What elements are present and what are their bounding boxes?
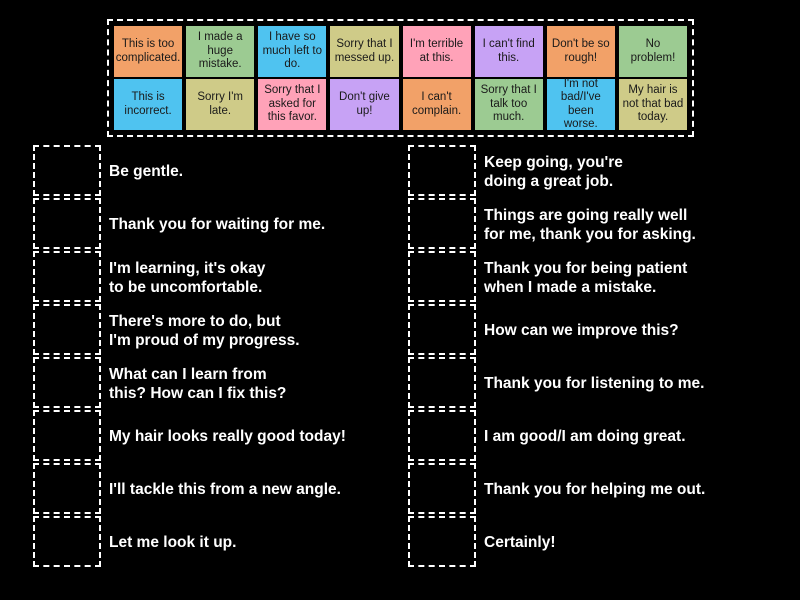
- prompt-text: Certainly!: [476, 516, 778, 569]
- prompt-row: Thank you for being patient when I made …: [408, 251, 778, 304]
- drop-zone[interactable]: [408, 145, 476, 196]
- tile-row-1: This is too complicated. I made a huge m…: [114, 26, 687, 77]
- answer-tile[interactable]: Sorry that I messed up.: [330, 26, 398, 77]
- prompt-row: What can I learn from this? How can I fi…: [33, 357, 403, 410]
- prompt-text: Thank you for being patient when I made …: [476, 251, 778, 304]
- prompt-text: How can we improve this?: [476, 304, 778, 357]
- prompt-row: How can we improve this?: [408, 304, 778, 357]
- answer-tile[interactable]: Don't give up!: [330, 79, 398, 130]
- prompt-row: Certainly!: [408, 516, 778, 569]
- prompt-row: I'm learning, it's okay to be uncomforta…: [33, 251, 403, 304]
- answer-tile[interactable]: Sorry that I talk too much.: [475, 79, 543, 130]
- answer-tile-tray: This is too complicated. I made a huge m…: [107, 19, 694, 137]
- answer-tile[interactable]: I have so much left to do.: [258, 26, 326, 77]
- drop-zone[interactable]: [408, 410, 476, 461]
- drop-zone[interactable]: [408, 304, 476, 355]
- answer-tile[interactable]: My hair is not that bad today.: [619, 79, 687, 130]
- prompt-row: Be gentle.: [33, 145, 403, 198]
- prompt-row: My hair looks really good today!: [33, 410, 403, 463]
- prompt-row: Keep going, you're doing a great job.: [408, 145, 778, 198]
- prompt-text: Thank you for helping me out.: [476, 463, 778, 516]
- prompt-row: Thank you for waiting for me.: [33, 198, 403, 251]
- drop-zone[interactable]: [33, 145, 101, 196]
- prompt-column-right: Keep going, you're doing a great job. Th…: [408, 145, 778, 569]
- prompt-row: Thank you for listening to me.: [408, 357, 778, 410]
- prompt-text: Keep going, you're doing a great job.: [476, 145, 778, 198]
- drop-zone[interactable]: [408, 198, 476, 249]
- answer-tile[interactable]: Sorry that I asked for this favor.: [258, 79, 326, 130]
- prompt-text: Thank you for listening to me.: [476, 357, 778, 410]
- prompt-row: I'll tackle this from a new angle.: [33, 463, 403, 516]
- drop-zone[interactable]: [408, 251, 476, 302]
- prompt-text: I'm learning, it's okay to be uncomforta…: [101, 251, 403, 304]
- prompt-row: I am good/I am doing great.: [408, 410, 778, 463]
- prompt-text: There's more to do, but I'm proud of my …: [101, 304, 403, 357]
- drop-zone[interactable]: [33, 357, 101, 408]
- answer-tile[interactable]: This is incorrect.: [114, 79, 182, 130]
- answer-tile[interactable]: I made a huge mistake.: [186, 26, 254, 77]
- answer-tile[interactable]: I can't find this.: [475, 26, 543, 77]
- prompt-text: Be gentle.: [101, 145, 403, 198]
- prompt-column-left: Be gentle. Thank you for waiting for me.…: [33, 145, 403, 569]
- prompt-text: My hair looks really good today!: [101, 410, 403, 463]
- drop-zone[interactable]: [408, 463, 476, 514]
- drop-zone[interactable]: [33, 410, 101, 461]
- drop-zone[interactable]: [33, 463, 101, 514]
- answer-tile[interactable]: Don't be so rough!: [547, 26, 615, 77]
- answer-tile[interactable]: I can't complain.: [403, 79, 471, 130]
- prompt-row: Let me look it up.: [33, 516, 403, 569]
- drop-zone[interactable]: [33, 198, 101, 249]
- drop-zone[interactable]: [408, 357, 476, 408]
- prompt-row: Things are going really well for me, tha…: [408, 198, 778, 251]
- prompt-row: There's more to do, but I'm proud of my …: [33, 304, 403, 357]
- answer-tile[interactable]: I'm terrible at this.: [403, 26, 471, 77]
- prompt-text: Thank you for waiting for me.: [101, 198, 403, 251]
- drop-zone[interactable]: [408, 516, 476, 567]
- answer-tile[interactable]: I'm not bad/I've been worse.: [547, 79, 615, 130]
- answer-tile[interactable]: This is too complicated.: [114, 26, 182, 77]
- drop-zone[interactable]: [33, 304, 101, 355]
- prompt-row: Thank you for helping me out.: [408, 463, 778, 516]
- drop-zone[interactable]: [33, 516, 101, 567]
- answer-tile[interactable]: Sorry I'm late.: [186, 79, 254, 130]
- drop-zone[interactable]: [33, 251, 101, 302]
- prompt-text: Things are going really well for me, tha…: [476, 198, 778, 251]
- tile-row-2: This is incorrect. Sorry I'm late. Sorry…: [114, 79, 687, 130]
- prompt-text: Let me look it up.: [101, 516, 403, 569]
- prompt-text: I'll tackle this from a new angle.: [101, 463, 403, 516]
- prompt-text: What can I learn from this? How can I fi…: [101, 357, 403, 410]
- answer-tile[interactable]: No problem!: [619, 26, 687, 77]
- prompt-text: I am good/I am doing great.: [476, 410, 778, 463]
